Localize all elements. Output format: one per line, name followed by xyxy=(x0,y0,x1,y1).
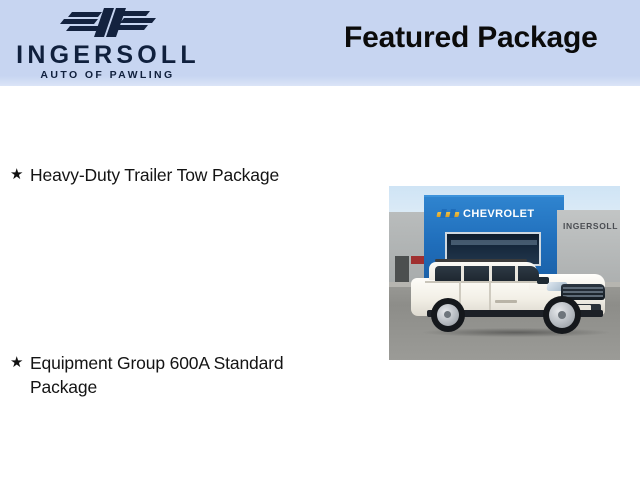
logo-tagline: AUTO OF PAWLING xyxy=(6,69,206,81)
vehicle-roof-rail xyxy=(435,259,527,262)
vehicle-side-badge xyxy=(495,300,517,303)
list-item: ★ Equipment Group 600A Standard Package xyxy=(10,351,340,399)
star-bullet-icon: ★ xyxy=(10,351,30,375)
chevrolet-bowtie-icon xyxy=(437,209,459,218)
vehicle-beltline xyxy=(425,281,541,283)
page-title: Featured Package xyxy=(344,19,630,57)
vehicle-windows xyxy=(435,266,539,282)
vehicle-door-seam xyxy=(489,282,491,310)
ingersoll-building-sign: INGERSOLL xyxy=(563,220,620,232)
star-bullet-icon: ★ xyxy=(10,163,30,187)
ingersoll-wing-emblem-icon xyxy=(58,6,158,40)
feature-list: ★ Heavy-Duty Trailer Tow Package ★ Equip… xyxy=(0,86,380,480)
chevrolet-sign-text: CHEVROLET xyxy=(463,208,534,220)
vehicle-photo-scene: CHEVROLET INGERSOLL xyxy=(389,186,620,360)
vehicle-photo[interactable]: CHEVROLET INGERSOLL xyxy=(389,186,620,360)
list-item: ★ Heavy-Duty Trailer Tow Package xyxy=(10,163,340,187)
logo-wordmark: INGERSOLL xyxy=(6,42,206,69)
chevrolet-sign: CHEVROLET xyxy=(437,206,549,221)
feature-label: Equipment Group 600A Standard Package xyxy=(30,351,340,399)
feature-label: Heavy-Duty Trailer Tow Package xyxy=(30,163,340,187)
vehicle-front-wheel xyxy=(543,296,581,334)
suv-vehicle xyxy=(411,248,605,334)
vehicle-rear-wheel xyxy=(431,298,465,332)
dealer-logo[interactable]: INGERSOLL AUTO OF PAWLING xyxy=(6,4,206,84)
